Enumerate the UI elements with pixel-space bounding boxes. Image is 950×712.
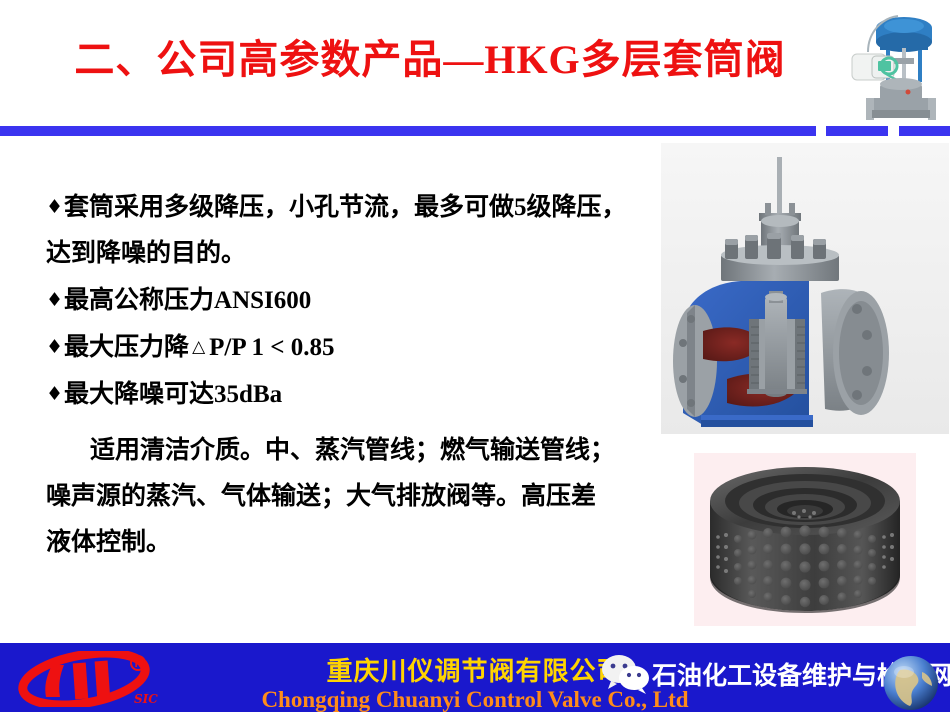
bullet-text-post: P/P 1 < 0.85 [209, 334, 334, 361]
bullet-text: 最高公称压力ANSI600 [64, 287, 311, 314]
bullet-line-cont: 达到降噪的目的。 [46, 231, 676, 277]
bullet-text: 达到降噪的目的。 [46, 240, 246, 267]
bullet-line-pressure: ♦最大压力降△P/P 1 < 0.85 [46, 324, 676, 371]
company-name-cn: 重庆川仪调节阀有限公司 [0, 651, 950, 688]
valve-cutaway-render [661, 143, 949, 434]
diamond-bullet-icon: ♦ [46, 336, 63, 358]
diamond-bullet-icon: ♦ [46, 383, 63, 405]
paragraph-line: 噪声源的蒸汽、气体输送；大气排放阀等。高压差 [46, 474, 676, 520]
bullet-line: ♦套筒采用多级降压，小孔节流，最多可做5级降压， [46, 184, 676, 231]
pneumatic-control-valve-photo [842, 2, 946, 124]
bullet-text: 套筒采用多级降压，小孔节流，最多可做5级降压， [64, 194, 627, 221]
divider-tail [0, 126, 950, 137]
multi-layer-perforated-cage-render [694, 453, 916, 626]
paragraph-line: 适用清洁介质。中、蒸汽管线；燃气输送管线； [46, 428, 676, 474]
body-text-block: ♦套筒采用多级降压，小孔节流，最多可做5级降压， 达到降噪的目的。 ♦最高公称压… [46, 184, 676, 418]
bullet-text: 最大降噪可达35dBa [64, 381, 282, 408]
delta-triangle-icon: △ [192, 337, 205, 357]
bullet-text-pre: 最大压力降 [64, 334, 189, 361]
bullet-line: ♦最高公称压力ANSI600 [46, 277, 676, 324]
application-paragraph: 适用清洁介质。中、蒸汽管线；燃气输送管线； 噪声源的蒸汽、气体输送；大气排放阀等… [46, 428, 676, 566]
diamond-bullet-icon: ♦ [46, 289, 63, 311]
slide-canvas: 二、公司高参数产品—HKG多层套筒阀 [0, 0, 950, 712]
bullet-line: ♦最大降噪可达35dBa [46, 371, 676, 418]
page-title: 二、公司高参数产品—HKG多层套筒阀 [0, 34, 860, 86]
footer-bar: R SIC 重庆川仪调节阀有限公司 Chongqing Chuanyi Cont… [0, 643, 950, 712]
paragraph-line: 液体控制。 [46, 520, 676, 566]
company-name-en: Chongqing Chuanyi Control Valve Co., Ltd [0, 687, 950, 712]
diamond-bullet-icon: ♦ [46, 196, 63, 218]
